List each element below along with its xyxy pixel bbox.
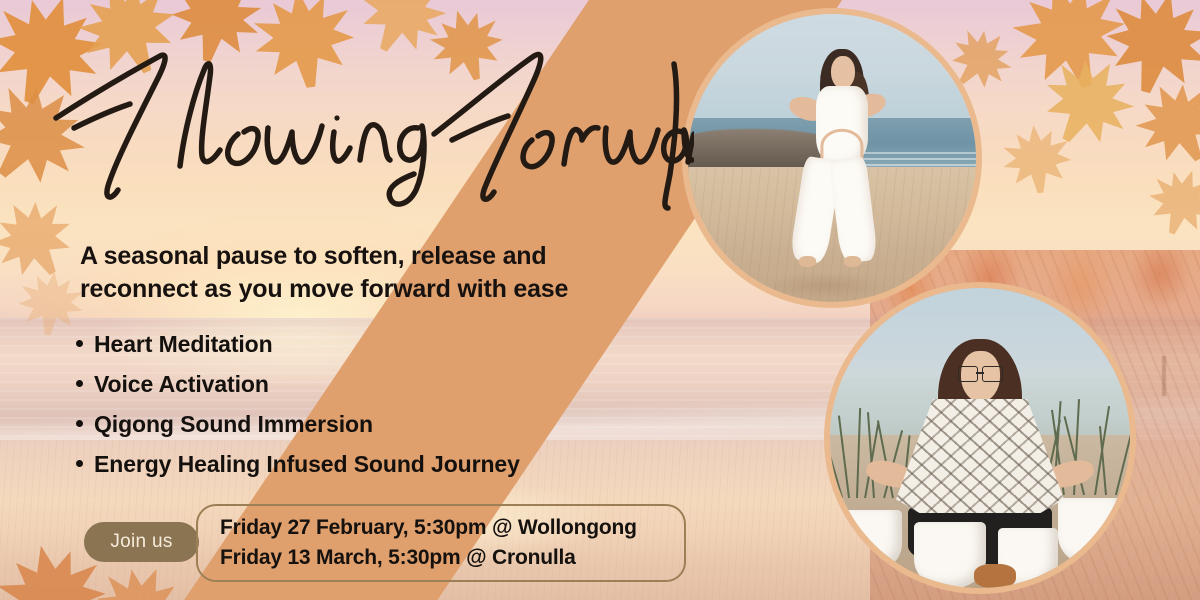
page-title [34,22,694,212]
singing-bowl [842,510,902,570]
singing-bowl [1058,498,1124,564]
photo2-altar-items [974,564,1016,588]
photo1-face [831,56,855,89]
subtitle: A seasonal pause to soften, release and … [80,240,640,306]
list-item: Voice Activation [74,370,614,398]
list-item: Energy Healing Infused Sound Journey [74,450,614,478]
event-flyer: A seasonal pause to soften, release and … [0,0,1200,600]
list-item: Heart Meditation [74,330,614,358]
session-dates-box: Friday 27 February, 5:30pm @ Wollongong … [196,504,686,582]
session-date-line: Friday 27 February, 5:30pm @ Wollongong [220,515,684,541]
photo1-left-foot [799,256,816,268]
list-item: Qigong Sound Immersion [74,410,614,438]
photo-sound-healer-with-singing-bowls [830,288,1130,588]
offerings-list: Heart Meditation Voice Activation Qigong… [74,330,614,490]
photo-qigong-practitioner-on-beach [688,14,976,302]
join-us-button[interactable]: Join us [84,522,199,562]
session-date-line: Friday 13 March, 5:30pm @ Cronulla [220,545,684,571]
glasses-icon [958,366,1003,380]
photo1-right-foot [844,256,861,268]
